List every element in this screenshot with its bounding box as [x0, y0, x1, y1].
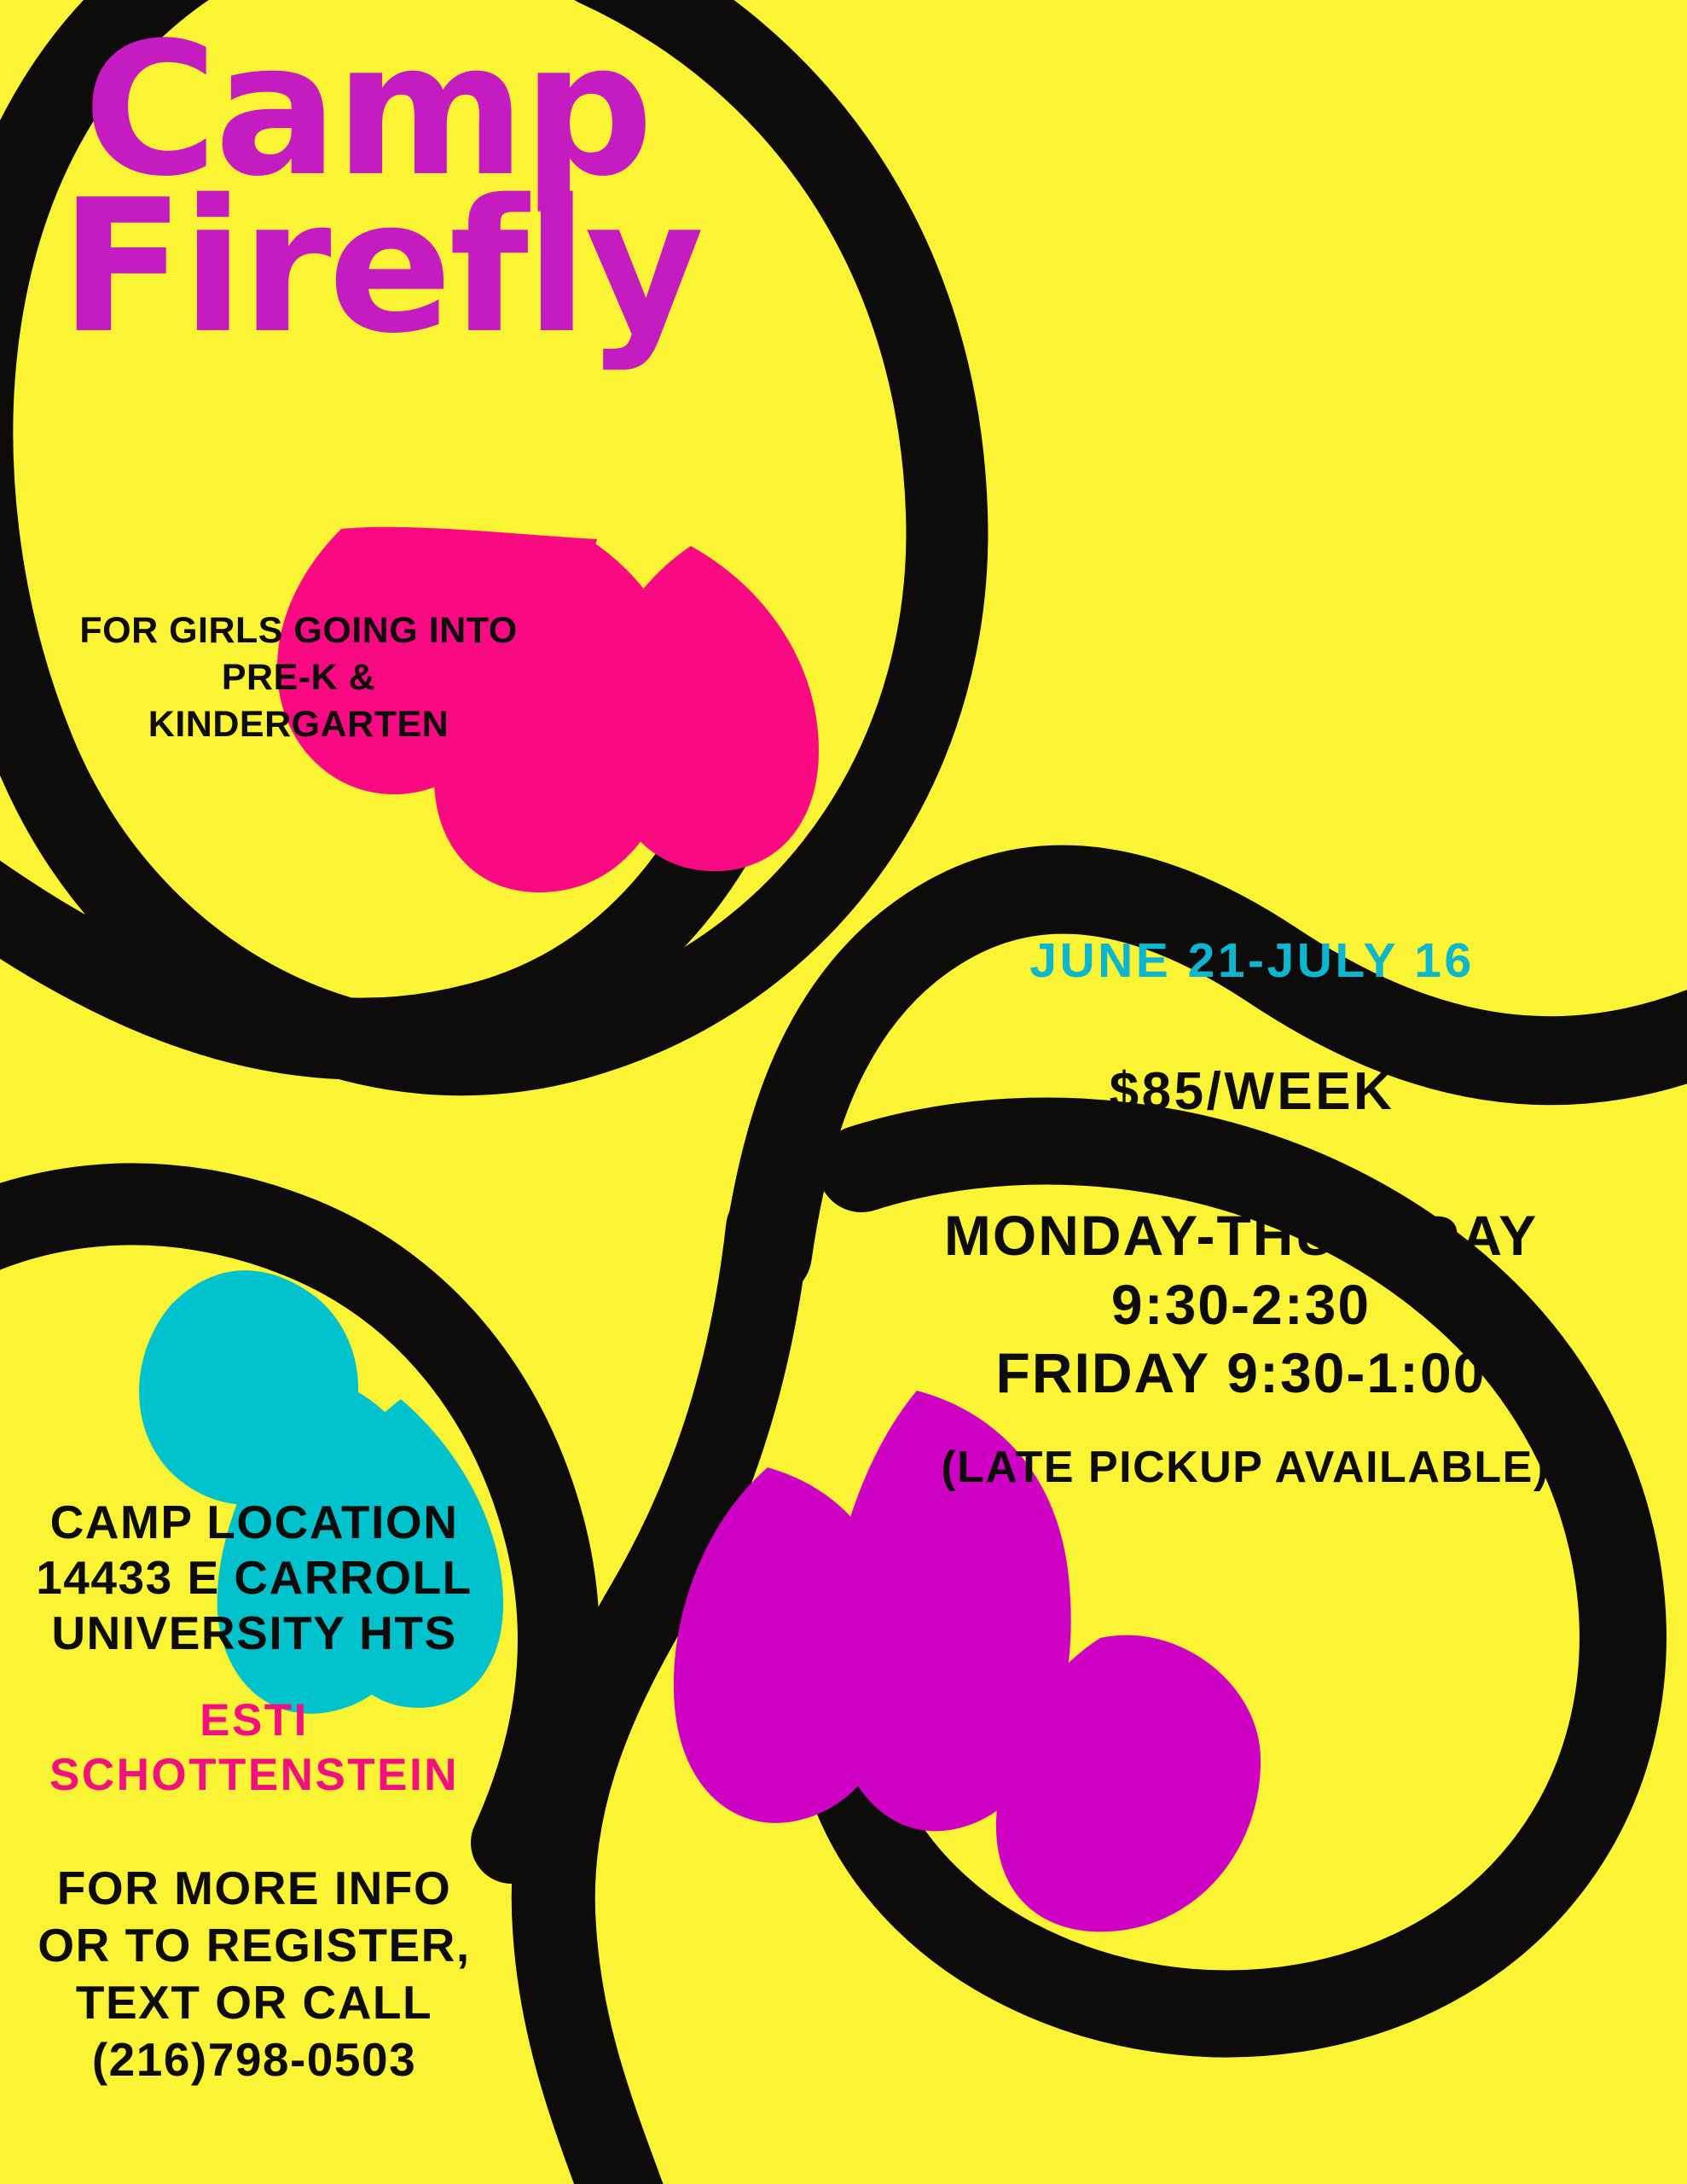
camp-firefly-flyer: Camp Firefly FOR GIRLS GOING INTO PRE-K …: [0, 0, 1687, 2184]
organizer-name: ESTI SCHOTTENSTEIN: [15, 1693, 493, 1802]
camp-location: CAMP LOCATION 14433 E CARROLL UNIVERSITY…: [15, 1495, 493, 1661]
late-pickup-note: (LATE PICKUP AVAILABLE): [836, 1443, 1655, 1492]
audience-text: FOR GIRLS GOING INTO PRE-K & KINDERGARTE…: [60, 607, 537, 748]
camp-dates: JUNE 21-JULY 16: [868, 934, 1636, 988]
title-line-firefly: Firefly: [60, 183, 674, 351]
page-title: Camp Firefly: [60, 26, 674, 351]
camp-price: $85/WEEK: [868, 1063, 1636, 1121]
camp-schedule: MONDAY-THURSDAY 9:30-2:30 FRIDAY 9:30-1:…: [836, 1201, 1646, 1408]
contact-info: FOR MORE INFO OR TO REGISTER, TEXT OR CA…: [15, 1860, 493, 2088]
